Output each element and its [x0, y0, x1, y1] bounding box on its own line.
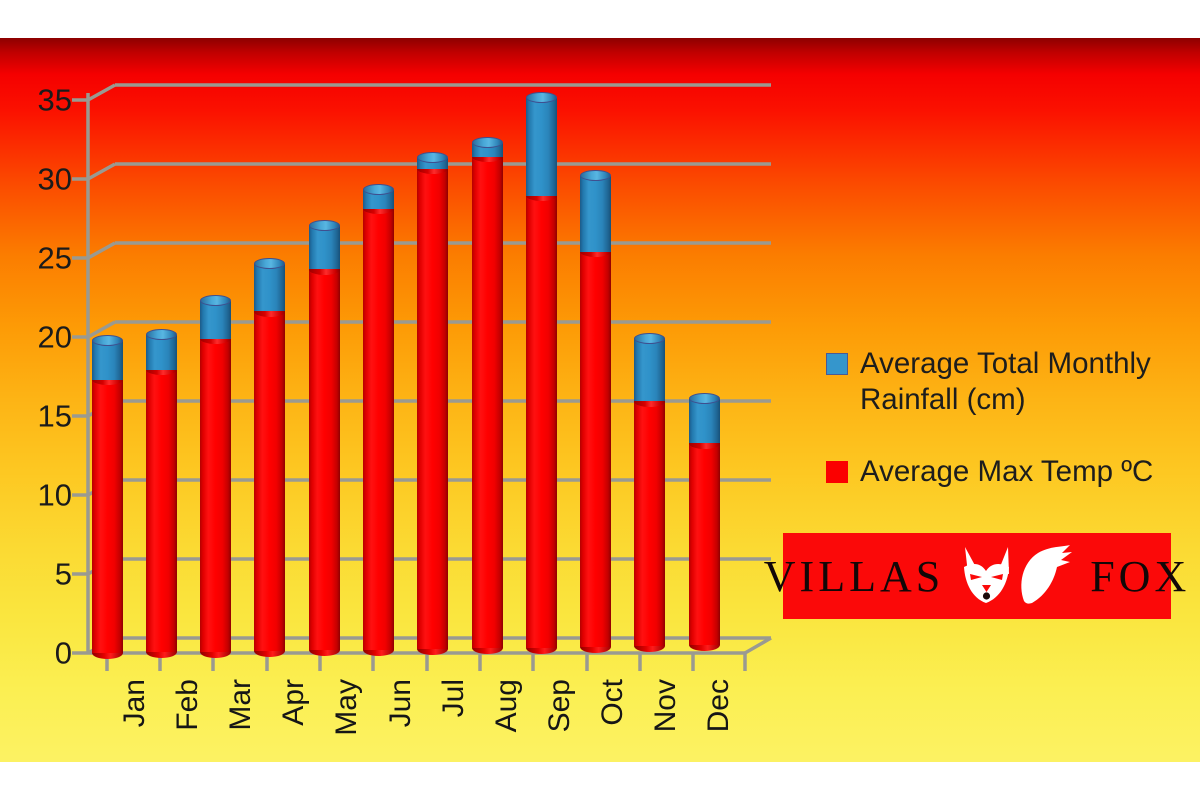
bar-segment-temp	[526, 196, 557, 648]
bar-jul[interactable]	[417, 158, 448, 649]
bar-segment-temp	[200, 339, 231, 652]
x-tick-nov: Nov	[649, 679, 683, 732]
x-tick-aug: Aug	[490, 679, 524, 732]
x-tick-dec: Dec	[702, 679, 736, 732]
chart-legend: Average Total Monthly Rainfall (cm) Aver…	[826, 346, 1186, 512]
x-tick-feb: Feb	[171, 679, 205, 731]
y-tick-30: 30	[16, 164, 72, 195]
bar-aug[interactable]	[472, 143, 503, 649]
bar-dec[interactable]	[689, 399, 720, 645]
logo-word-villas: VILLAS	[764, 551, 944, 602]
bar-segment-temp	[580, 252, 611, 647]
legend-item-rainfall[interactable]: Average Total Monthly Rainfall (cm)	[826, 346, 1186, 418]
x-tick-mar: Mar	[224, 679, 258, 731]
legend-item-rainfall-label: Average Total Monthly Rainfall (cm)	[860, 346, 1151, 418]
rainfall-swatch	[826, 353, 848, 375]
temp-swatch	[826, 461, 848, 483]
bar-segment-temp	[689, 443, 720, 645]
bar-segment-rainfall	[92, 340, 123, 380]
bar-feb[interactable]	[146, 335, 177, 653]
bar-segment-rainfall	[634, 338, 665, 401]
y-tick-15: 15	[16, 401, 72, 432]
y-axis-tick-labels: 35 30 25 20 15 10 5 0	[10, 38, 72, 762]
bar-mar[interactable]	[200, 301, 231, 652]
y-tick-10: 10	[16, 480, 72, 511]
bar-segment-rainfall	[254, 264, 285, 311]
x-tick-oct: Oct	[596, 679, 630, 726]
bar-cap-rainfall	[472, 137, 503, 148]
legend-rainfall-line1: Average Total Monthly	[860, 347, 1151, 380]
x-tick-may: May	[330, 679, 364, 736]
legend-item-temp-label: Average Max Temp ºC	[860, 454, 1153, 490]
bar-cap-rainfall	[92, 335, 123, 346]
bar-cap-rainfall	[309, 220, 340, 231]
bar-cap-rainfall	[634, 333, 665, 344]
bar-may[interactable]	[309, 225, 340, 650]
bar-segment-rainfall	[309, 225, 340, 269]
bar-segment-rainfall	[689, 399, 720, 443]
x-tick-apr: Apr	[277, 679, 311, 726]
y-tick-5: 5	[16, 559, 72, 590]
legend-rainfall-line2: Rainfall (cm)	[860, 383, 1026, 416]
bar-segment-rainfall	[526, 98, 557, 196]
bar-apr[interactable]	[254, 264, 285, 651]
y-tick-20: 20	[16, 322, 72, 353]
x-tick-sep: Sep	[543, 679, 577, 732]
bar-segment-temp	[309, 269, 340, 650]
bar-segment-temp	[146, 370, 177, 653]
chart-screenshot: 35 30 25 20 15 10 5 0 JanFebMarAprMayJun…	[0, 0, 1200, 800]
x-tick-jun: Jun	[384, 679, 418, 727]
bar-segment-temp	[417, 169, 448, 649]
logo-word-fox: FOX	[1090, 551, 1190, 602]
bar-segment-rainfall	[580, 176, 611, 252]
chart-card: 35 30 25 20 15 10 5 0 JanFebMarAprMayJun…	[0, 38, 1200, 762]
bar-segment-rainfall	[200, 301, 231, 339]
y-tick-25: 25	[16, 243, 72, 274]
bar-segment-temp	[363, 209, 394, 650]
bar-oct[interactable]	[580, 176, 611, 647]
bar-segment-temp	[472, 157, 503, 648]
fox-head-icon	[958, 541, 1076, 612]
y-tick-0: 0	[16, 638, 72, 669]
bar-jun[interactable]	[363, 190, 394, 650]
bar-segment-temp	[92, 380, 123, 653]
villas-fox-logo[interactable]: VILLAS	[783, 533, 1171, 619]
bar-segment-temp	[634, 401, 665, 646]
x-tick-jul: Jul	[437, 679, 471, 717]
y-tick-35: 35	[16, 85, 72, 116]
legend-item-temp[interactable]: Average Max Temp ºC	[826, 454, 1186, 490]
bar-nov[interactable]	[634, 338, 665, 646]
bar-jan[interactable]	[92, 340, 123, 653]
bar-segment-temp	[254, 311, 285, 651]
x-tick-jan: Jan	[118, 679, 152, 727]
legend-temp-line1: Average Max Temp ºC	[860, 455, 1153, 488]
bar-sep[interactable]	[526, 98, 557, 648]
